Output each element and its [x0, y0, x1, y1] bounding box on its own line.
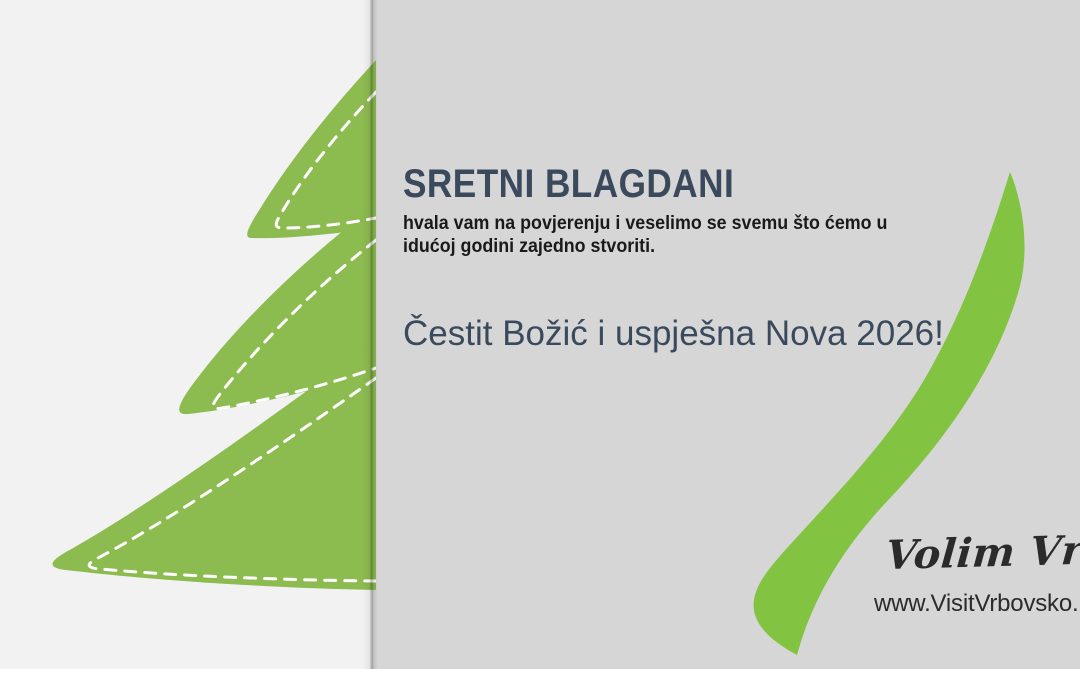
website-url[interactable]: www.VisitVrbovsko.hr	[874, 590, 1080, 618]
headline: SRETNI BLAGDANI	[403, 162, 878, 206]
bottom-white-strip	[0, 669, 1080, 675]
greeting-line: Čestit Božić i uspješna Nova 2026!	[403, 313, 944, 355]
subline: hvala vam na povjerenju i veselimo se sv…	[403, 212, 929, 258]
tree-foliage	[53, 60, 377, 590]
message-block: SRETNI BLAGDANI hvala vam na povjerenju …	[403, 162, 943, 258]
brand-signature: Volim Vrbovsko	[884, 524, 1080, 579]
greeting-card: SRETNI BLAGDANI hvala vam na povjerenju …	[0, 0, 1080, 675]
christmas-tree-illustration	[0, 0, 376, 675]
